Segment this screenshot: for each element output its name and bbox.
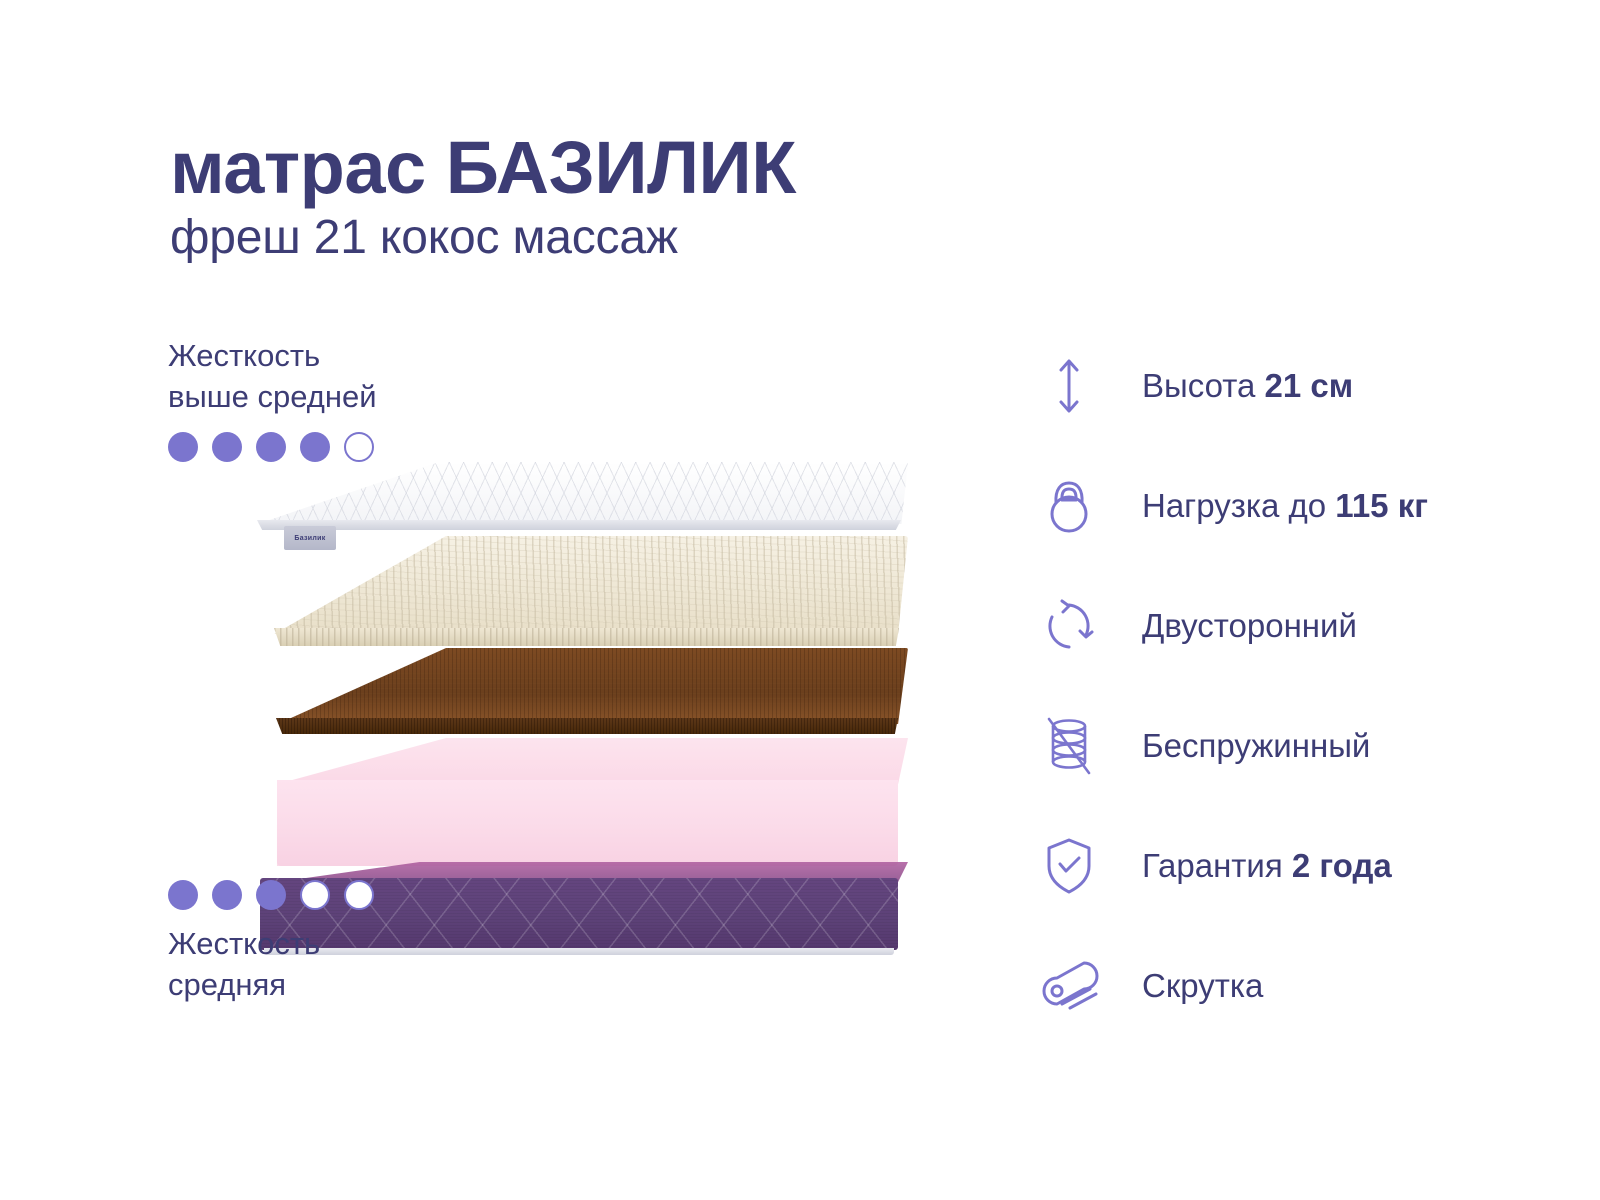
firmness-bottom-label-line1: Жесткость (168, 924, 374, 965)
firmness-dot-filled (300, 432, 330, 462)
firmness-dot-empty (300, 880, 330, 910)
feature-label-height: Высота 21 см (1142, 368, 1353, 404)
layer-cream-massage-foam (248, 536, 908, 654)
feature-label-springless: Беспружинный (1142, 728, 1370, 764)
firmness-bottom-rating-dots (168, 880, 374, 910)
cover-front-face (257, 520, 901, 530)
firmness-dot-empty (344, 432, 374, 462)
feature-row-rollup: Скрутка (1038, 926, 1428, 1046)
massage-foam-front-face (274, 628, 899, 646)
pink-foam-top-face (248, 738, 908, 784)
firmness-dot-filled (212, 880, 242, 910)
firmness-bottom-block: Жесткость средняя (168, 880, 374, 1006)
firmness-dot-filled (256, 880, 286, 910)
two-sided-arrows-icon (1038, 590, 1100, 662)
firmness-top-block: Жесткость выше средней (168, 336, 377, 462)
title-main: матрас БАЗИЛИК (170, 132, 796, 205)
firmness-top-rating-dots (168, 432, 377, 462)
feature-row-load: Нагрузка до 115 кг (1038, 446, 1428, 566)
layer-coconut-coir (248, 648, 908, 744)
feature-row-springless: Беспружинный (1038, 686, 1428, 806)
coir-top-face (248, 648, 908, 724)
feature-list: Высота 21 см Нагрузка до 115 кг (1038, 326, 1428, 1046)
firmness-dot-filled (212, 432, 242, 462)
feature-label-load: Нагрузка до 115 кг (1142, 488, 1428, 524)
feature-row-height: Высота 21 см (1038, 326, 1428, 446)
height-arrow-icon (1038, 350, 1100, 422)
coir-front-face (276, 718, 898, 734)
product-infographic: матрас БАЗИЛИК фреш 21 кокос массаж Жест… (0, 0, 1600, 1200)
firmness-bottom-label-line2: средняя (168, 965, 374, 1006)
firmness-top-label-line1: Жесткость (168, 336, 377, 377)
feature-label-warranty: Гарантия 2 года (1142, 848, 1392, 884)
cover-top-face (248, 462, 908, 524)
title-subtitle: фреш 21 кокос массаж (170, 213, 796, 263)
mattress-exploded-illustration: Базилик (248, 462, 908, 882)
layer-white-quilted-cover: Базилик (248, 462, 908, 534)
feature-row-warranty: Гарантия 2 года (1038, 806, 1428, 926)
shield-check-icon (1038, 830, 1100, 902)
pink-foam-front-face (277, 780, 898, 866)
firmness-dot-empty (344, 880, 374, 910)
massage-foam-top-face (248, 536, 908, 634)
feature-row-two-sided: Двусторонний (1038, 566, 1428, 686)
feature-label-rollup: Скрутка (1142, 968, 1263, 1004)
kettlebell-icon (1038, 470, 1100, 542)
firmness-dot-filled (168, 880, 198, 910)
firmness-dot-filled (256, 432, 286, 462)
page-title: матрас БАЗИЛИК фреш 21 кокос массаж (170, 132, 796, 263)
no-spring-icon (1038, 710, 1100, 782)
feature-label-two-sided: Двусторонний (1142, 608, 1357, 644)
firmness-dot-filled (168, 432, 198, 462)
firmness-top-label-line2: выше средней (168, 377, 377, 418)
roll-up-icon (1038, 950, 1100, 1022)
